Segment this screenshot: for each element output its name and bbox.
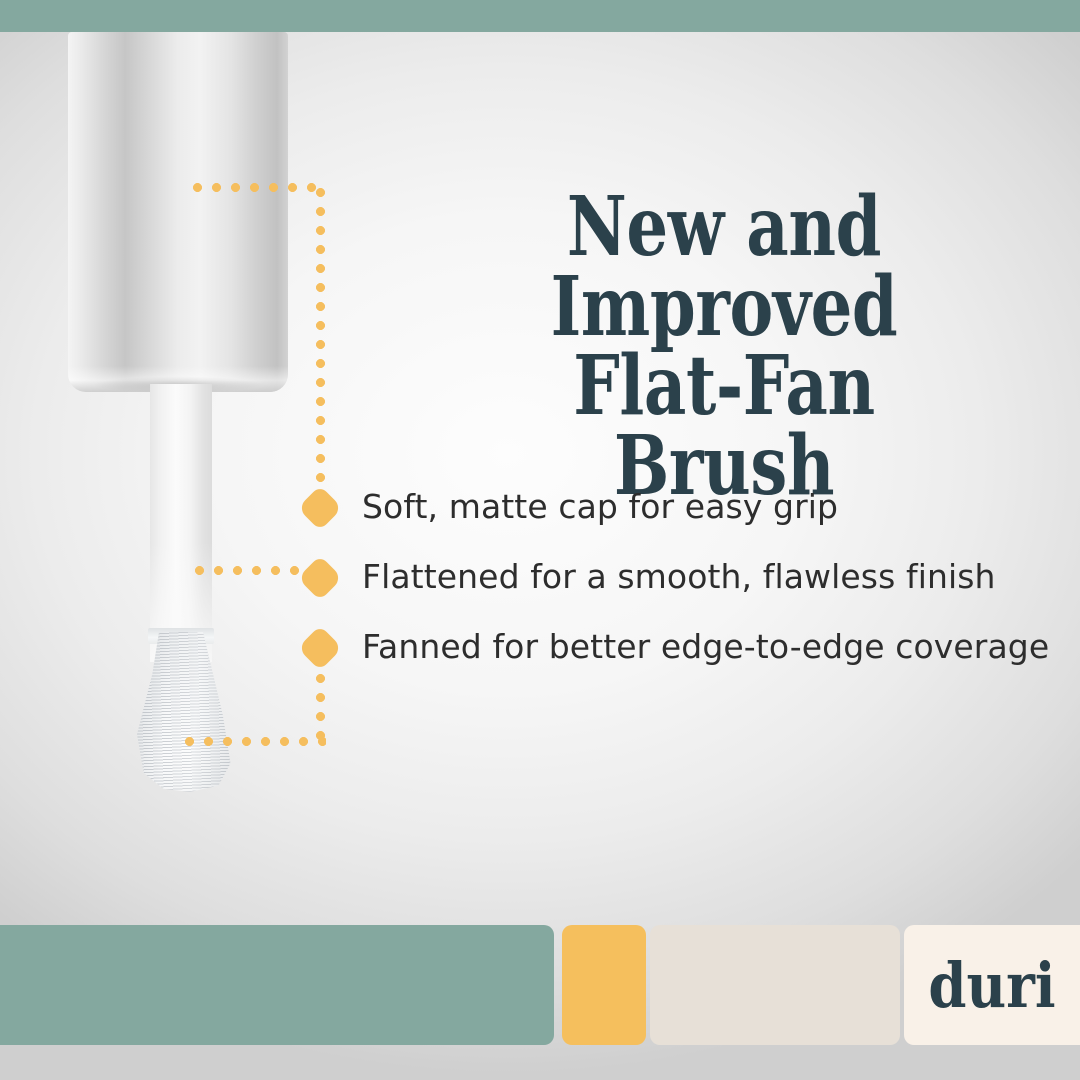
promo-graphic: New and Improved Flat-Fan Brush Soft, ma…	[0, 0, 1080, 1080]
list-item: Flattened for a smooth, flawless finish	[300, 548, 1040, 618]
footer-sage-block	[0, 925, 554, 1045]
page-title: New and Improved Flat-Fan Brush	[497, 188, 951, 506]
callout-line-bristles-horizontal	[180, 737, 326, 746]
list-item: Fanned for better edge-to-edge coverage	[300, 618, 1040, 688]
top-accent-bar	[0, 0, 1080, 32]
bristle-shading	[126, 632, 236, 792]
feature-list: Soft, matte cap for easy grip Flattened …	[300, 478, 1040, 688]
feature-text: Fanned for better edge-to-edge coverage	[362, 624, 1049, 670]
diamond-marker-icon	[300, 558, 340, 598]
brush-stem	[150, 384, 212, 662]
footer-beige-block	[650, 925, 900, 1045]
feature-text: Soft, matte cap for easy grip	[362, 484, 838, 530]
callout-line-cap-vertical	[316, 183, 325, 493]
diamond-marker-icon	[300, 628, 340, 668]
matte-cap	[68, 32, 288, 392]
list-item: Soft, matte cap for easy grip	[300, 478, 1040, 548]
feature-text: Flattened for a smooth, flawless finish	[362, 554, 996, 600]
headline-line-1: New and Improved	[551, 179, 898, 355]
footer-amber-block	[562, 925, 646, 1045]
brand-logo: duri	[915, 925, 1070, 1045]
callout-line-cap-horizontal	[188, 183, 324, 192]
diamond-marker-icon	[300, 488, 340, 528]
